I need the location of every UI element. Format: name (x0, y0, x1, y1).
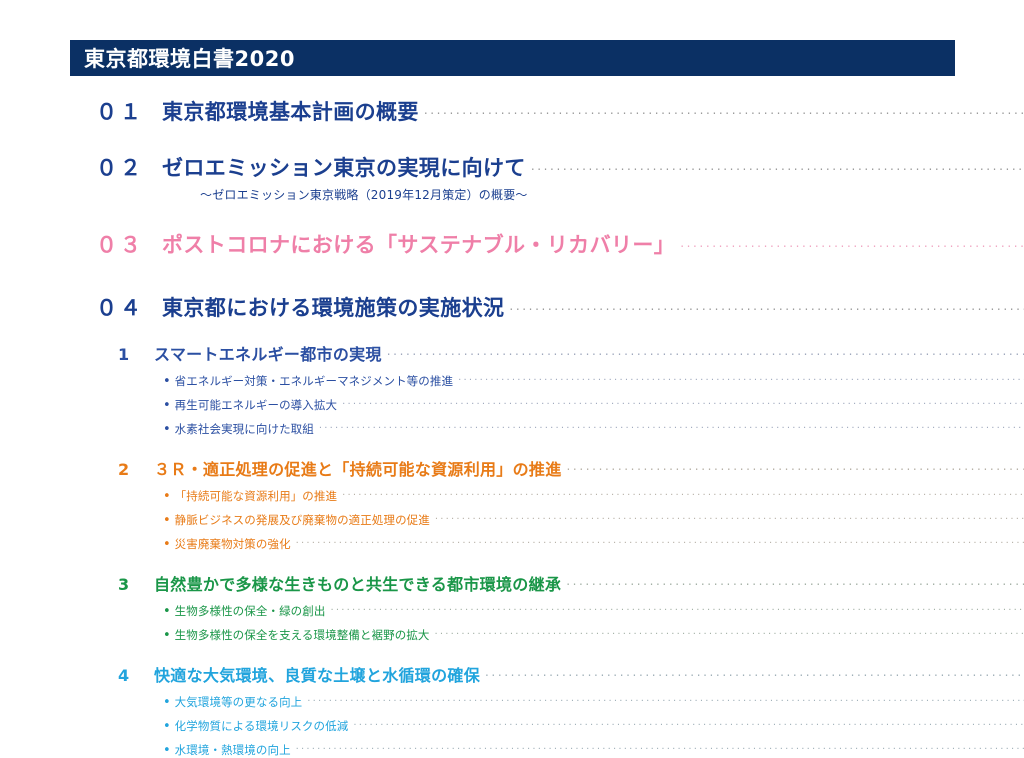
dot-leader (330, 599, 1024, 615)
chapter-number: ０２ (96, 152, 162, 182)
dot-leader (567, 459, 1024, 475)
toc-section-3[interactable]: 3 自然豊かで多様な生きものと共生できる都市環境の継承 64 (0, 571, 1024, 595)
toc-section-4[interactable]: 4 快適な大気環境、良質な土壌と水循環の確保 76 (0, 662, 1024, 686)
page-title: 東京都環境白書2020 (70, 43, 295, 73)
item-title: 化学物質による環境リスクの低減 (175, 718, 349, 734)
item-title: 省エネルギー対策・エネルギーマネジメント等の推進 (175, 373, 453, 389)
spacer (0, 76, 1024, 96)
spacer (0, 126, 1024, 146)
toc-item[interactable]: • 生物多様性の保全を支える環境整備と裾野の拡大 71 (0, 623, 1024, 643)
bullet-icon: • (163, 375, 171, 388)
dot-leader (458, 369, 1024, 385)
section-title: 自然豊かで多様な生きものと共生できる都市環境の継承 (154, 571, 561, 595)
chapter-title: 東京都環境基本計画の概要 (162, 96, 419, 126)
dot-leader (296, 738, 1024, 754)
section-title: ３Ｒ・適正処理の促進と「持続可能な資源利用」の推進 (154, 456, 562, 480)
toc-item[interactable]: • 「持続可能な資源利用」の推進 51 (0, 484, 1024, 504)
toc-item[interactable]: • 省エネルギー対策・エネルギーマネジメント等の推進 25 (0, 369, 1024, 389)
toc-item[interactable]: • 再生可能エネルギーの導入拡大 41 (0, 393, 1024, 413)
spacer (0, 259, 1024, 279)
dot-leader (307, 690, 1024, 706)
dot-leader (435, 623, 1024, 639)
chapter-title: ゼロエミッション東京の実現に向けて (162, 152, 526, 182)
dot-leader (342, 393, 1024, 409)
toc-section-1[interactable]: 1 スマートエネルギー都市の実現 24 (0, 341, 1024, 365)
item-title: 水環境・熱環境の向上 (175, 742, 291, 758)
bullet-icon: • (163, 744, 171, 757)
toc-item[interactable]: • 水環境・熱環境の向上 82 (0, 738, 1024, 758)
item-title: 水素社会実現に向けた取組 (175, 421, 314, 437)
bullet-icon: • (163, 423, 171, 436)
section-title: スマートエネルギー都市の実現 (154, 341, 382, 365)
section-number: 1 (118, 345, 154, 364)
section-number: 2 (118, 460, 154, 479)
spacer (0, 437, 1024, 450)
dot-leader (485, 665, 1024, 681)
bullet-icon: • (163, 538, 171, 551)
toc-item[interactable]: • 災害廃棄物対策の強化 63 (0, 532, 1024, 552)
item-title: 「持続可能な資源利用」の推進 (175, 488, 337, 504)
chapter-number: ０４ (96, 292, 162, 322)
toc-item[interactable]: • 静脈ビジネスの発展及び廃棄物の適正処理の促進 60 (0, 508, 1024, 528)
spacer (0, 322, 1024, 335)
table-of-contents: ０１ 東京都環境基本計画の概要 3 ０２ ゼロエミッション東京の実現に向けて 5… (0, 76, 1024, 758)
bullet-icon: • (163, 629, 171, 642)
chapter-title: 東京都における環境施策の実施状況 (162, 292, 504, 322)
dot-leader (296, 532, 1024, 548)
toc-item[interactable]: • 生物多様性の保全・緑の創出 65 (0, 599, 1024, 619)
dot-leader (342, 484, 1024, 500)
bullet-icon: • (163, 696, 171, 709)
dot-leader (319, 417, 1024, 433)
dot-leader (353, 714, 1024, 730)
section-title: 快適な大気環境、良質な土壌と水循環の確保 (154, 662, 480, 686)
spacer (0, 203, 1024, 223)
chapter-title: ポストコロナにおける「サステナブル・リカバリー」 (162, 229, 675, 259)
bullet-icon: • (163, 605, 171, 618)
item-title: 再生可能エネルギーの導入拡大 (175, 397, 337, 413)
dot-leader (435, 508, 1024, 524)
toc-item[interactable]: • 化学物質による環境リスクの低減 80 (0, 714, 1024, 734)
toc-chapter-03[interactable]: ０３ ポストコロナにおける「サステナブル・リカバリー」 13 (0, 229, 1024, 259)
toc-chapter-01[interactable]: ０１ 東京都環境基本計画の概要 3 (0, 96, 1024, 126)
bullet-icon: • (163, 514, 171, 527)
toc-section-2[interactable]: 2 ３Ｒ・適正処理の促進と「持続可能な資源利用」の推進 50 (0, 456, 1024, 480)
section-number: 4 (118, 666, 154, 685)
document-header-bar: 東京都環境白書2020 (70, 40, 955, 76)
dot-leader (509, 299, 1024, 315)
spacer (0, 643, 1024, 656)
item-title: 生物多様性の保全を支える環境整備と裾野の拡大 (175, 627, 430, 643)
chapter-number: ０３ (96, 229, 162, 259)
dot-leader (680, 236, 1024, 252)
spacer (0, 279, 1024, 292)
bullet-icon: • (163, 720, 171, 733)
bullet-icon: • (163, 399, 171, 412)
dot-leader (387, 344, 1024, 360)
toc-chapter-02[interactable]: ０２ ゼロエミッション東京の実現に向けて 5 (0, 152, 1024, 182)
toc-item[interactable]: • 水素社会実現に向けた取組 46 (0, 417, 1024, 437)
item-title: 大気環境等の更なる向上 (175, 694, 303, 710)
section-number: 3 (118, 575, 154, 594)
item-title: 静脈ビジネスの発展及び廃棄物の適正処理の促進 (175, 512, 430, 528)
item-title: 災害廃棄物対策の強化 (175, 536, 291, 552)
spacer (0, 552, 1024, 565)
dot-leader (566, 574, 1024, 590)
chapter-number: ０１ (96, 96, 162, 126)
item-title: 生物多様性の保全・緑の創出 (175, 603, 326, 619)
dot-leader (531, 159, 1024, 175)
chapter-subtitle-note: 〜ゼロエミッション東京戦略（2019年12月策定）の概要〜 (0, 186, 1024, 203)
dot-leader (424, 103, 1024, 119)
toc-item[interactable]: • 大気環境等の更なる向上 77 (0, 690, 1024, 710)
toc-chapter-04[interactable]: ０４ 東京都における環境施策の実施状況 23 (0, 292, 1024, 322)
bullet-icon: • (163, 490, 171, 503)
